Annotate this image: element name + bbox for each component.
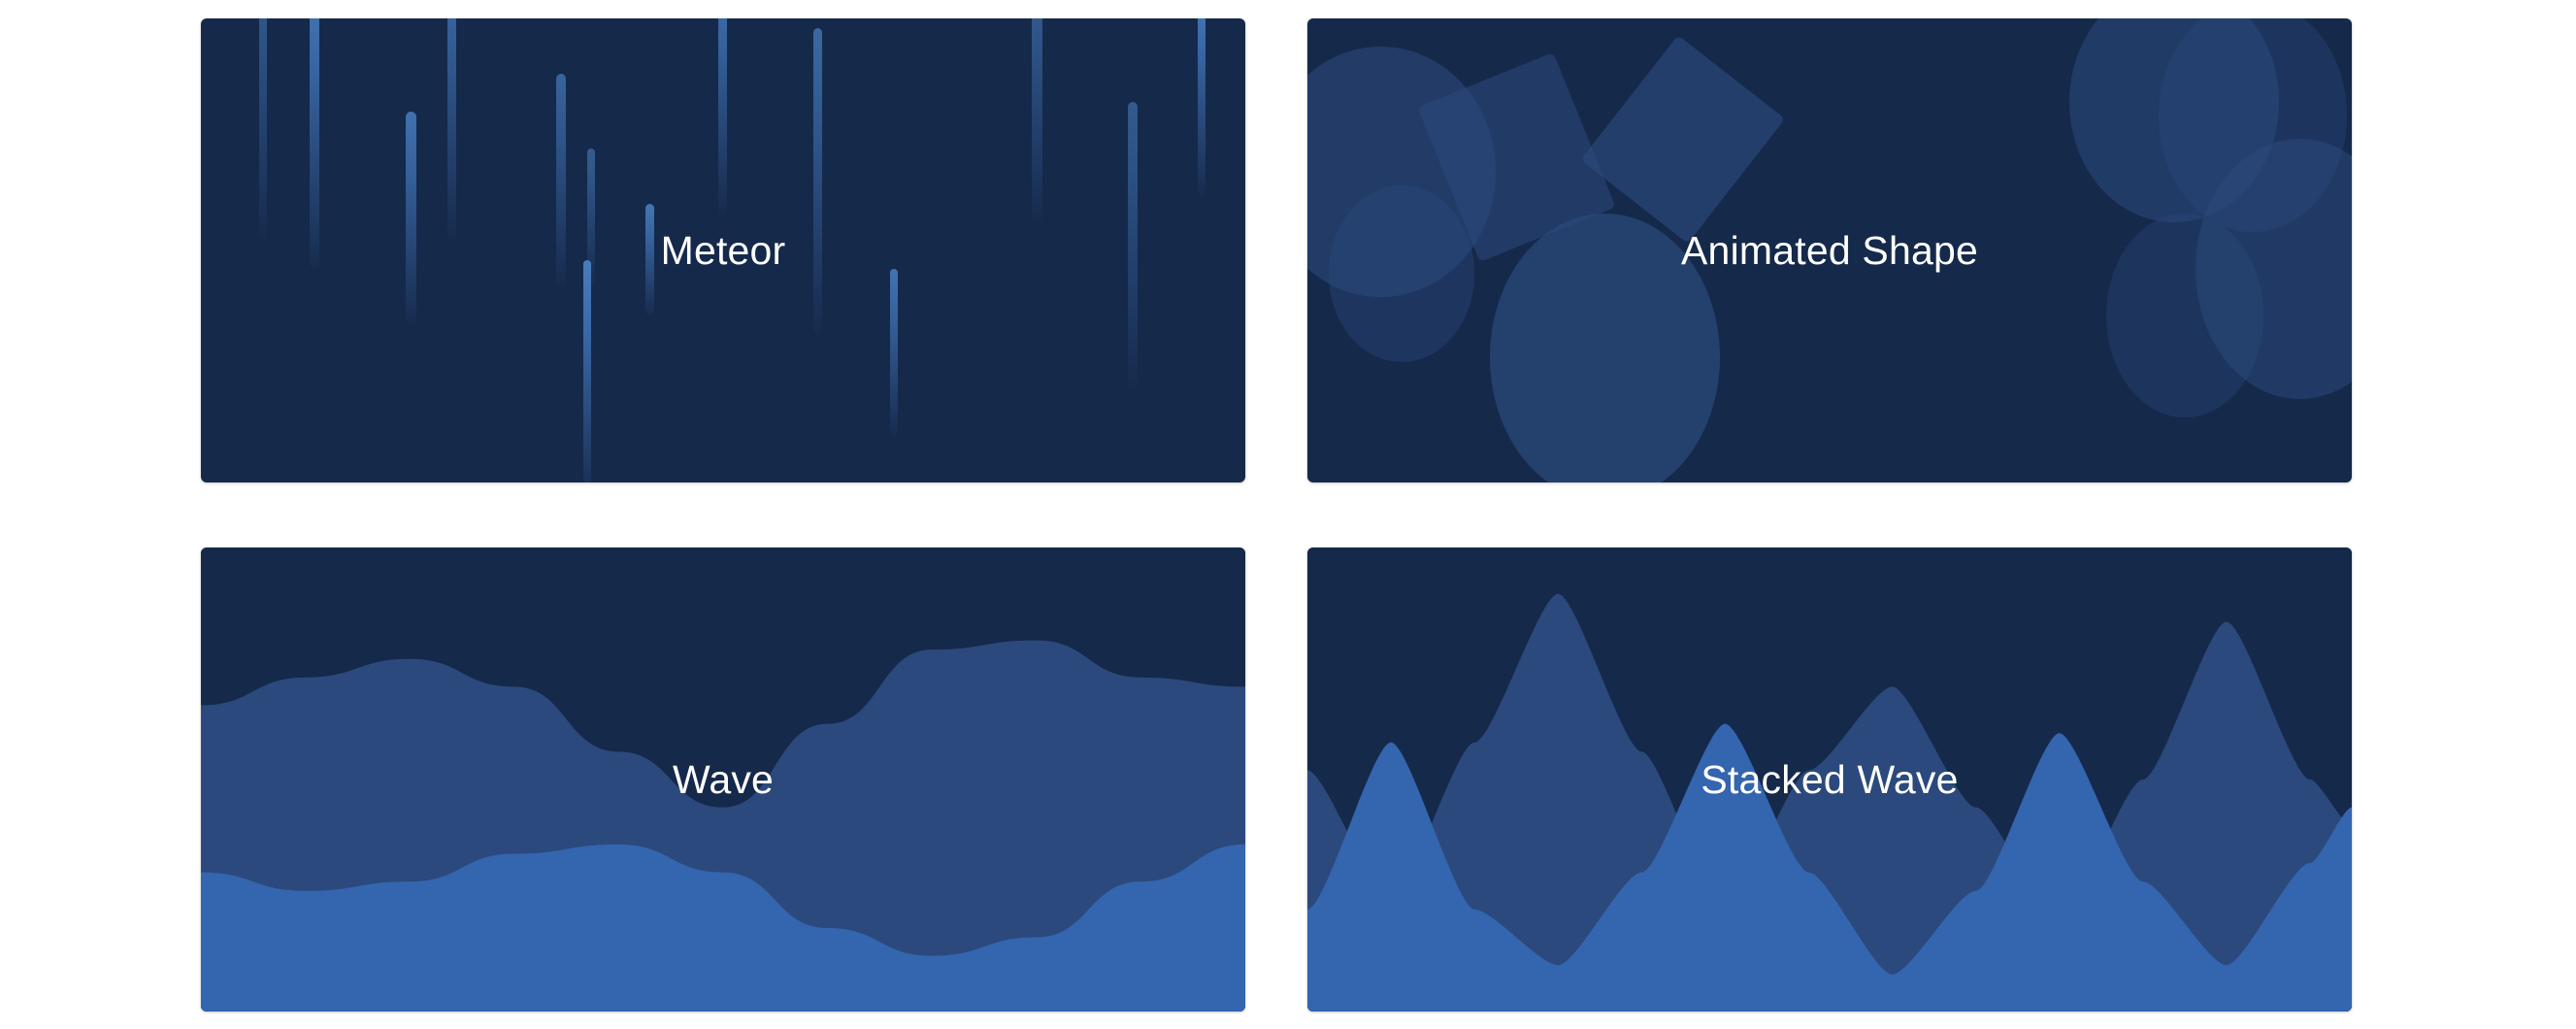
floating-circle-shape <box>2106 214 2262 417</box>
meteor-streak <box>813 28 823 334</box>
card-animated-shape[interactable]: Animated Shape <box>1307 18 2352 482</box>
meteor-streak <box>259 18 267 241</box>
meteor-streak <box>447 18 456 241</box>
meteor-streak <box>645 204 654 315</box>
card-wave[interactable]: Wave <box>201 548 1245 1012</box>
card-meteor[interactable]: Meteor <box>201 18 1245 482</box>
floating-circle-shape <box>1490 214 1720 482</box>
meteor-streak <box>406 112 416 325</box>
meteor-streak <box>583 260 592 482</box>
meteor-streak <box>556 74 566 287</box>
meteor-streak <box>1032 18 1042 222</box>
wave-svg <box>201 548 1245 1012</box>
meteor-streak <box>1128 102 1137 389</box>
meteor-streak <box>1198 18 1206 195</box>
meteor-streak <box>718 18 727 214</box>
floating-square-shape <box>1581 35 1785 243</box>
card-stacked-wave[interactable]: Stacked Wave <box>1307 548 2352 1012</box>
floating-shape-layer <box>1307 18 2352 482</box>
effect-card-gallery: Meteor Animated Shape Wave Stacked Wave <box>0 0 2576 1029</box>
meteor-streak <box>890 269 898 436</box>
floating-circle-shape <box>1329 185 1475 362</box>
meteor-streak-layer <box>201 18 1245 482</box>
stacked-wave-svg <box>1307 548 2352 1012</box>
meteor-streak <box>310 18 319 269</box>
